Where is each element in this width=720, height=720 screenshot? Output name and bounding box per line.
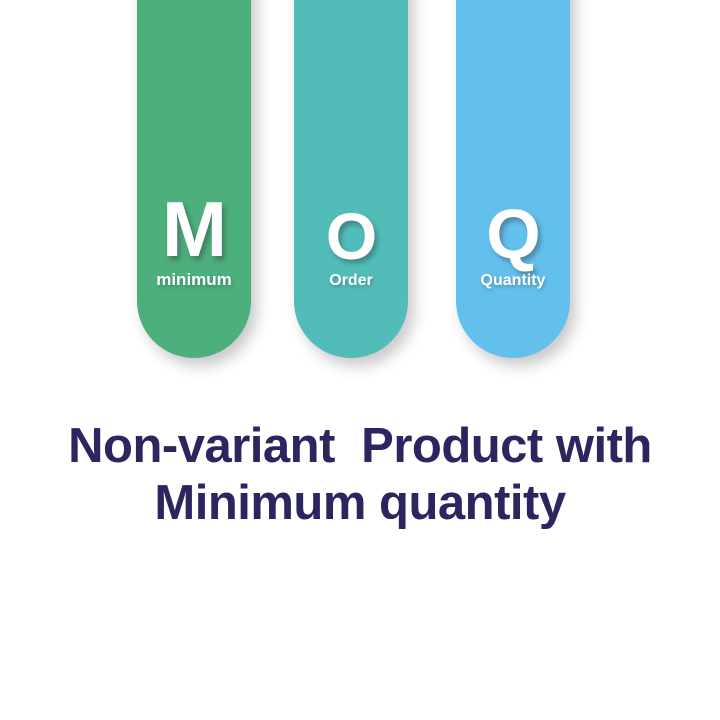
acronym-letter-q: Q [486,203,539,266]
caption-text: Non-variant Product with Minimum quantit… [0,418,720,533]
acronym-letter-o: O [326,207,376,266]
acronym-label-order: Order [329,272,373,290]
caption-line-2: Minimum quantity [0,475,720,532]
acronym-label-minimum: minimum [156,270,232,290]
moq-infographic: M minimum O Order Q Quantity Non-variant… [0,0,720,720]
acronym-column-quantity: Q Quantity [456,0,570,358]
acronym-bars: M minimum O Order Q Quantity [0,0,720,400]
caption-line-1: Non-variant Product with [0,418,720,475]
acronym-column-order: O Order [294,0,408,358]
acronym-label-quantity: Quantity [481,272,546,290]
acronym-column-minimum: M minimum [137,0,251,358]
acronym-letter-m: M [162,194,226,264]
